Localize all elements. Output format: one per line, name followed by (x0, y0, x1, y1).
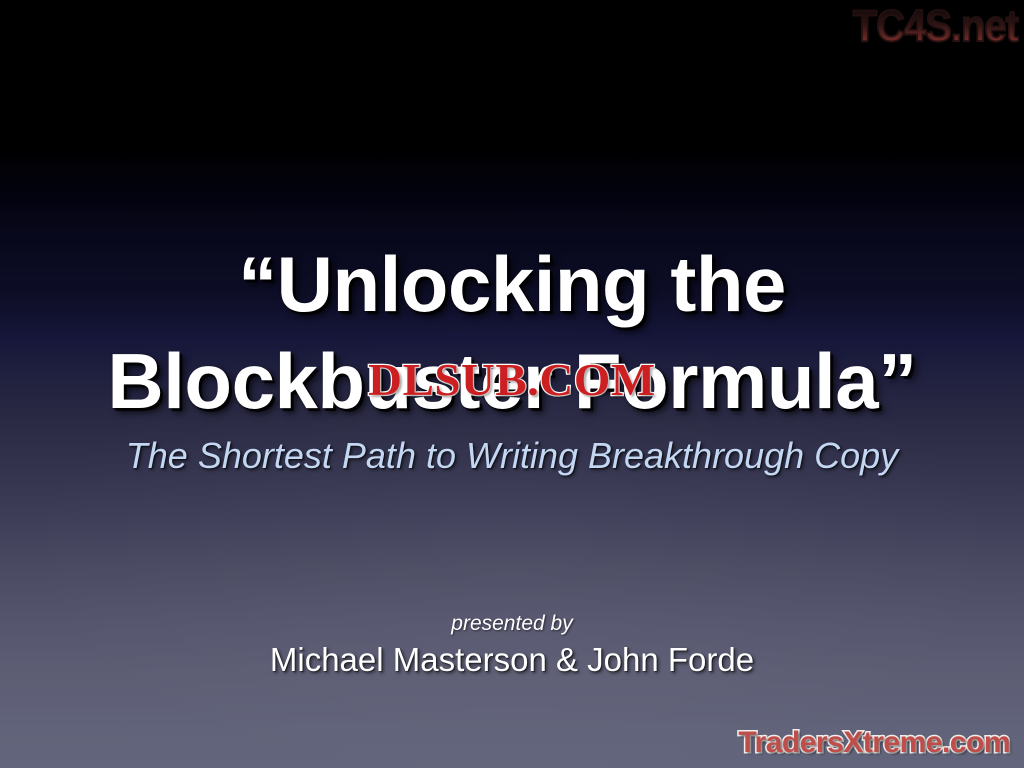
title-line-2: Blockbuster Formula” (0, 333, 1024, 430)
watermark-tc4s-text: TC4S.net (853, 2, 1018, 51)
presenter-names: Michael Masterson & John Forde (0, 640, 1024, 680)
title-line-1: “Unlocking the (0, 236, 1024, 333)
watermark-tradersxtreme-text: TradersXtreme.com (738, 726, 1010, 760)
watermark-top-right: TC4S.net (853, 2, 1018, 46)
presented-by-label: presented by (0, 610, 1024, 638)
watermark-bottom-right: TradersXtreme.com (738, 726, 1010, 760)
presenter-credit: presented by Michael Masterson & John Fo… (0, 610, 1024, 680)
slide-subtitle: The Shortest Path to Writing Breakthroug… (0, 434, 1024, 478)
page-title: “Unlocking the Blockbuster Formula” (0, 236, 1024, 430)
presentation-slide: “Unlocking the Blockbuster Formula” The … (0, 0, 1024, 768)
